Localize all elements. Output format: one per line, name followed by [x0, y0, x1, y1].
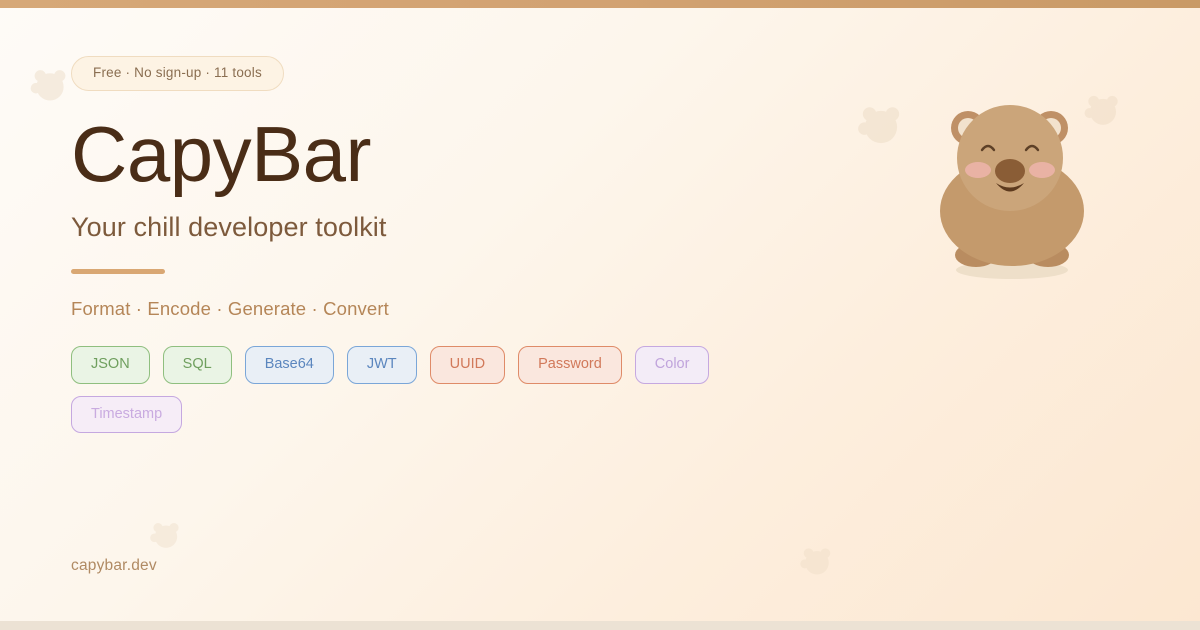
deco-capy-5 [798, 543, 836, 581]
mascot-head [957, 105, 1063, 211]
tool-chip[interactable]: Color [635, 346, 710, 384]
tool-chip-list: JSONSQLBase64JWTUUIDPasswordColorTimesta… [71, 346, 711, 433]
mascot-nose [995, 159, 1025, 183]
tool-chip[interactable]: JWT [347, 346, 417, 384]
hero-content: Free · No sign-up · 11 tools CapyBar You… [71, 56, 811, 433]
tool-chip[interactable]: Password [518, 346, 622, 384]
capybara-mascot [920, 98, 1100, 288]
page-subtitle: Your chill developer toolkit [71, 213, 811, 243]
tool-chip[interactable]: UUID [430, 346, 505, 384]
mascot-cheek-left [965, 162, 991, 178]
status-badge: Free · No sign-up · 11 tools [71, 56, 284, 91]
tool-chip[interactable]: JSON [71, 346, 150, 384]
poster-canvas: Free · No sign-up · 11 tools CapyBar You… [0, 0, 1200, 630]
page-title: CapyBar [71, 115, 811, 193]
accent-divider [71, 269, 165, 274]
capabilities-tagline: Format · Encode · Generate · Convert [71, 298, 811, 320]
deco-capy-1 [28, 64, 72, 108]
deco-capy-2 [855, 100, 907, 152]
bottom-strip [0, 621, 1200, 630]
top-accent-stripe [0, 0, 1200, 8]
tool-chip[interactable]: Base64 [245, 346, 334, 384]
deco-capy-4 [148, 518, 184, 554]
mascot-cheek-right [1029, 162, 1055, 178]
tool-chip[interactable]: SQL [163, 346, 232, 384]
tool-chip[interactable]: Timestamp [71, 396, 182, 434]
footer-domain: capybar.dev [71, 557, 157, 575]
